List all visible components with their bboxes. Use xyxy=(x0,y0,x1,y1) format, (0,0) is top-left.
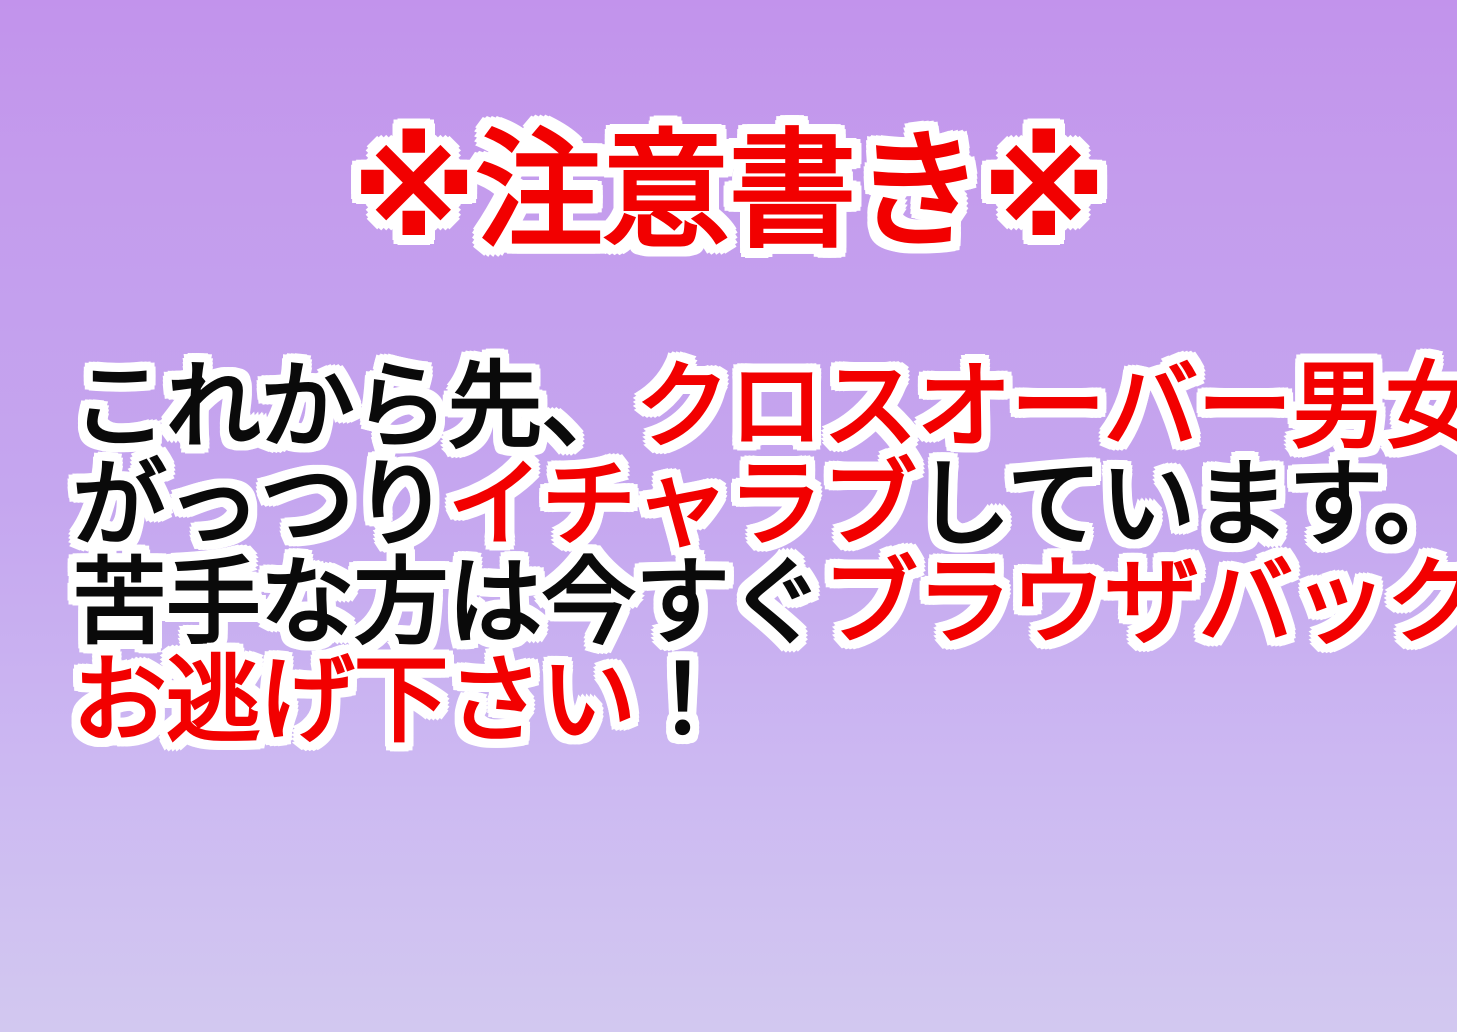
warning-segment: がっつり xyxy=(72,450,447,560)
heading-block: ※注意書き※ xyxy=(0,128,1457,256)
warning-segment: これから先、 xyxy=(72,352,635,462)
warning-line-2: がっつりイチャラブしています。 xyxy=(72,458,1402,553)
page-title: ※注意書き※ xyxy=(352,128,1105,256)
warning-line-4: お逃げ下さい！ xyxy=(72,654,1402,749)
warning-segment: ブラウザバックで xyxy=(823,548,1457,658)
warning-segment: クロスオーバー男女 xyxy=(635,352,1457,462)
warning-segment: イチャラブ xyxy=(447,450,915,560)
warning-line-1: これから先、クロスオーバー男女が xyxy=(72,360,1402,455)
warning-body: これから先、クロスオーバー男女が がっつりイチャラブしています。 苦手な方は今す… xyxy=(72,360,1402,751)
warning-card: ※注意書き※ これから先、クロスオーバー男女が がっつりイチャラブしています。 … xyxy=(0,0,1457,1032)
warning-line-3: 苦手な方は今すぐブラウザバックで xyxy=(72,556,1402,651)
warning-segment: しています。 xyxy=(916,450,1457,560)
warning-segment: お逃げ下さい xyxy=(72,646,635,756)
warning-segment: ！ xyxy=(635,646,729,756)
warning-segment: 苦手な方は今すぐ xyxy=(72,548,823,658)
